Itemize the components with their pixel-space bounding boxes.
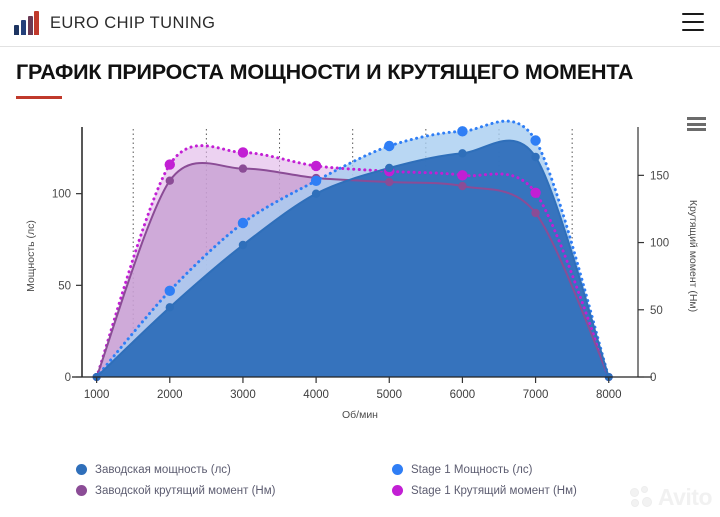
svg-text:50: 50 — [58, 280, 71, 292]
svg-text:50: 50 — [650, 305, 663, 317]
legend-marker-icon — [392, 464, 403, 475]
svg-text:100: 100 — [650, 238, 669, 250]
avito-watermark: Avito — [630, 484, 712, 511]
title-underline — [16, 96, 62, 99]
svg-text:4000: 4000 — [303, 389, 329, 401]
svg-text:1000: 1000 — [84, 389, 110, 401]
legend-column-1: Заводская мощность (лс) Заводской крутящ… — [76, 459, 275, 501]
brand-logo[interactable]: EURO CHIP TUNING — [14, 11, 215, 35]
legend-item-stage1-torque[interactable]: Stage 1 Крутящий момент (Нм) — [392, 480, 577, 501]
bar-chart-logo-icon — [14, 11, 40, 35]
page-title: ГРАФИК ПРИРОСТА МОЩНОСТИ И КРУТЯЩЕГО МОМ… — [16, 60, 704, 85]
page-root: EURO CHIP TUNING ГРАФИК ПРИРОСТА МОЩНОСТ… — [0, 0, 720, 517]
svg-text:0: 0 — [65, 372, 71, 384]
legend-label: Stage 1 Мощность (лс) — [411, 464, 532, 476]
svg-text:5000: 5000 — [376, 389, 402, 401]
chart-container: 0501000501001501000200030004000500060007… — [0, 103, 720, 483]
dyno-chart: 0501000501001501000200030004000500060007… — [0, 103, 720, 483]
legend-marker-icon — [392, 485, 403, 496]
svg-text:0: 0 — [650, 372, 656, 384]
svg-text:Об/мин: Об/мин — [342, 409, 378, 421]
brand-name: EURO CHIP TUNING — [50, 14, 215, 33]
svg-text:Крутящий момент (Нм): Крутящий момент (Нм) — [687, 200, 699, 312]
svg-text:6000: 6000 — [450, 389, 476, 401]
chart-legend: Заводская мощность (лс) Заводской крутящ… — [0, 455, 720, 511]
legend-item-stock-power[interactable]: Заводская мощность (лс) — [76, 459, 275, 480]
avito-logo-icon — [630, 486, 656, 510]
title-block: ГРАФИК ПРИРОСТА МОЩНОСТИ И КРУТЯЩЕГО МОМ… — [0, 47, 720, 99]
watermark-text: Avito — [658, 484, 712, 511]
legend-marker-icon — [76, 464, 87, 475]
svg-text:7000: 7000 — [523, 389, 549, 401]
svg-text:150: 150 — [650, 170, 669, 182]
svg-text:Мощность (лс): Мощность (лс) — [25, 220, 37, 292]
svg-text:3000: 3000 — [230, 389, 256, 401]
svg-text:8000: 8000 — [596, 389, 622, 401]
svg-text:100: 100 — [52, 189, 71, 201]
legend-label: Заводская мощность (лс) — [95, 464, 231, 476]
legend-label: Заводской крутящий момент (Нм) — [95, 485, 275, 497]
site-header: EURO CHIP TUNING — [0, 0, 720, 47]
legend-item-stage1-power[interactable]: Stage 1 Мощность (лс) — [392, 459, 577, 480]
legend-item-stock-torque[interactable]: Заводской крутящий момент (Нм) — [76, 480, 275, 501]
svg-text:2000: 2000 — [157, 389, 183, 401]
legend-column-2: Stage 1 Мощность (лс) Stage 1 Крутящий м… — [392, 459, 577, 501]
legend-marker-icon — [76, 485, 87, 496]
legend-label: Stage 1 Крутящий момент (Нм) — [411, 485, 577, 497]
hamburger-menu-icon[interactable] — [682, 13, 704, 31]
